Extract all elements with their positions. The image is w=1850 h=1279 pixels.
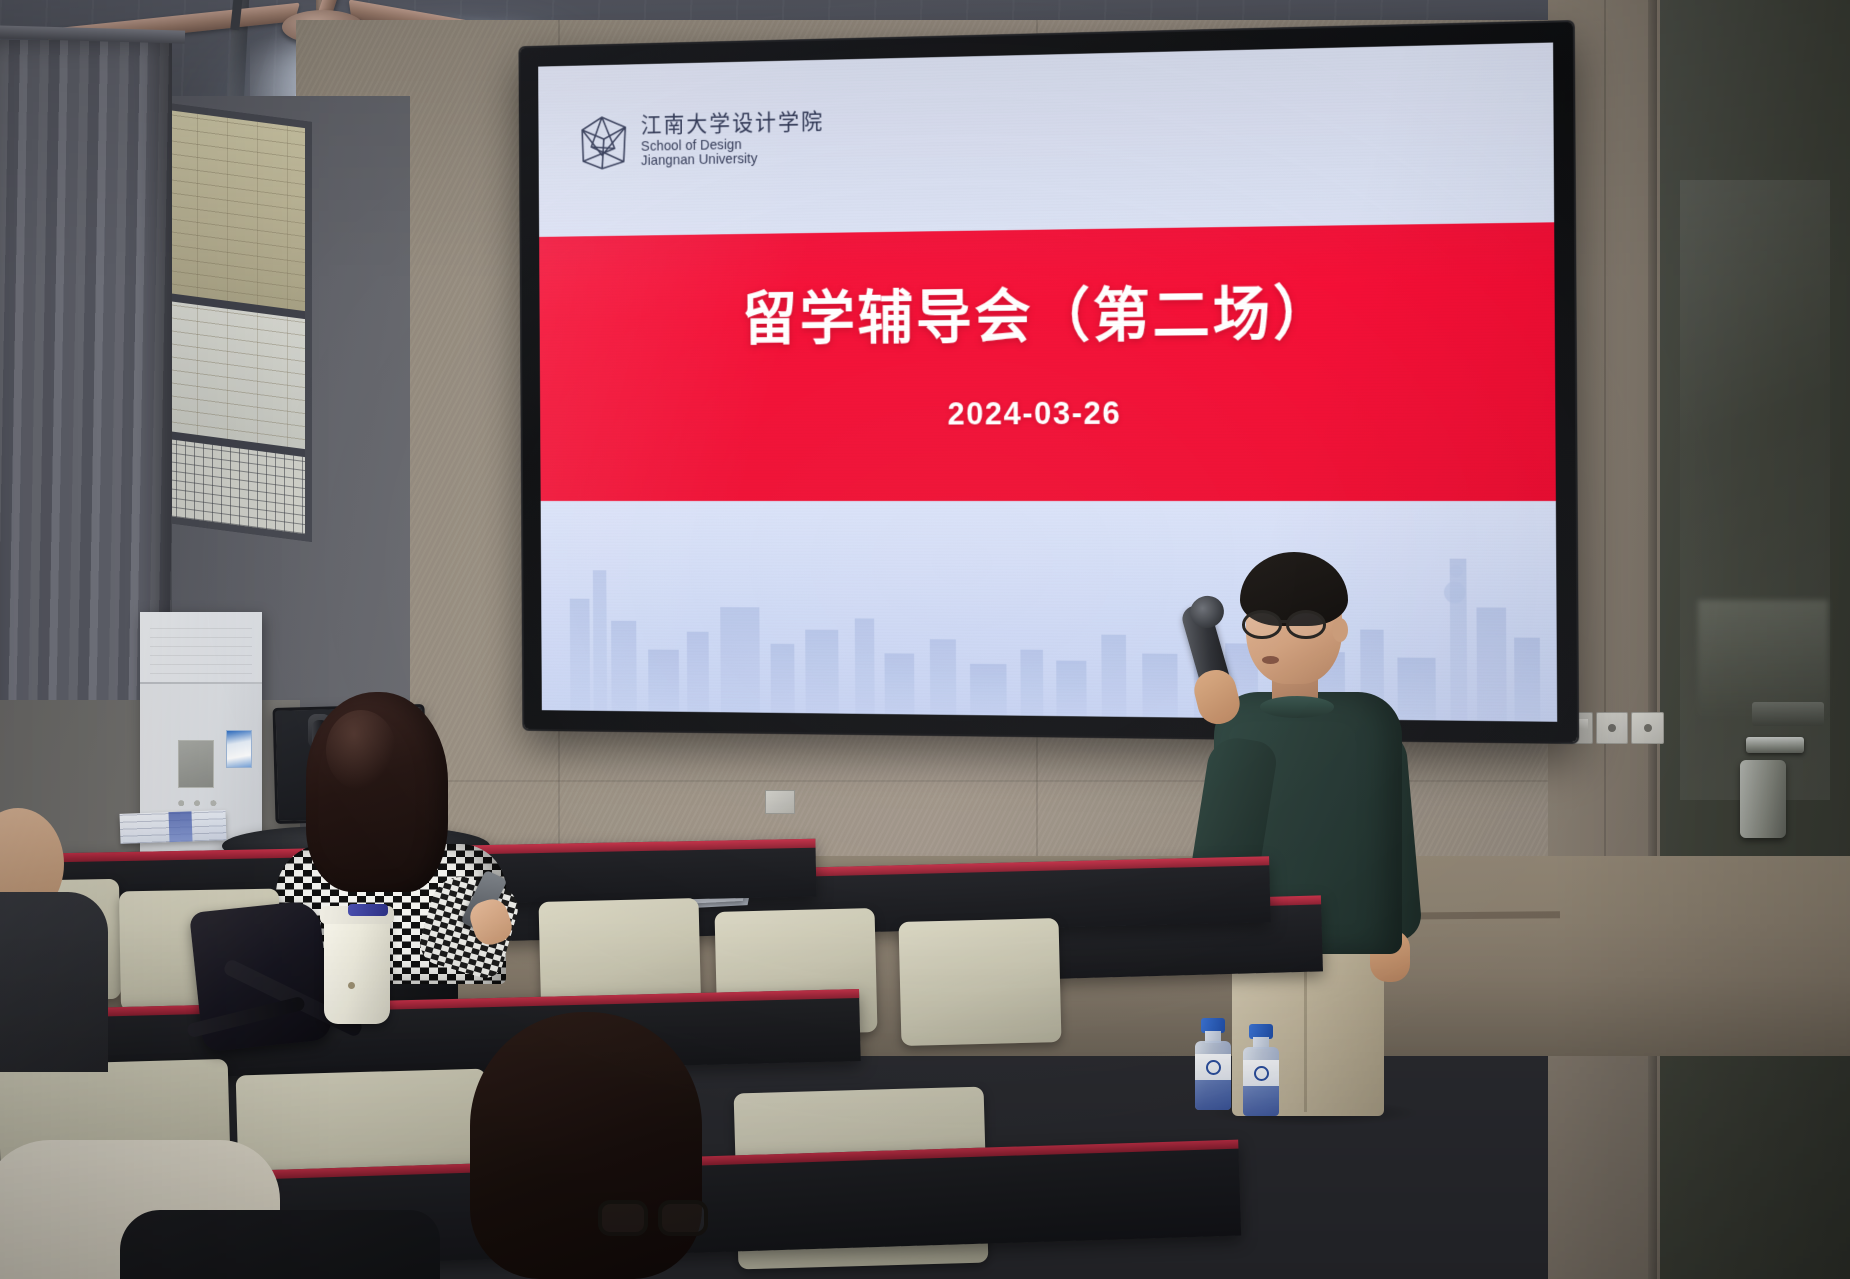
glasses-lens-left — [1242, 610, 1282, 639]
door-lock[interactable] — [1740, 760, 1786, 838]
tumbler-logo-dot — [348, 982, 355, 989]
ac-top-panel — [140, 612, 262, 684]
power-outlet[interactable] — [1596, 712, 1629, 744]
logo-english-line-2: Jiangnan University — [641, 151, 824, 169]
classroom-window — [160, 102, 312, 542]
glasses-lens-right — [658, 1200, 708, 1236]
door-handle[interactable] — [1746, 737, 1804, 753]
logo-chinese-name: 江南大学设计学院 — [641, 111, 824, 137]
presenter-mouth — [1262, 656, 1279, 664]
ac-vents — [150, 622, 252, 674]
tumbler-accent — [348, 904, 388, 916]
door-jamb — [1648, 0, 1657, 1279]
ac-energy-label — [226, 730, 252, 768]
slide-date: 2024-03-26 — [540, 392, 1555, 434]
ac-display — [178, 740, 214, 788]
slide-logo: 江南大学设计学院 School of Design Jiangnan Unive… — [579, 109, 825, 171]
paper-lines — [120, 810, 227, 844]
water-bottle[interactable] — [1240, 1024, 1282, 1116]
seat-back[interactable] — [899, 918, 1062, 1046]
attendee-front-left-body — [0, 892, 108, 1072]
lecture-hall-scene: 江南大学设计学院 School of Design Jiangnan Unive… — [0, 0, 1850, 1279]
eyeglasses-icon — [598, 1200, 710, 1240]
window-pane-middle — [167, 301, 305, 453]
exterior-brick-wall — [167, 110, 305, 315]
door-closer-arm — [1752, 702, 1824, 726]
trouser-seam — [1304, 952, 1307, 1112]
exterior-brick-wall — [167, 301, 305, 453]
wall-junction-box — [765, 790, 795, 814]
water-bottle[interactable] — [1192, 1018, 1234, 1110]
power-outlet[interactable] — [1631, 712, 1664, 744]
window-pane-upper — [167, 110, 305, 315]
slide-title: 留学辅导会（第二场） — [539, 263, 1555, 358]
glass-entry-door[interactable] — [1660, 0, 1850, 1279]
hair-highlight — [326, 710, 396, 790]
bottle-label — [1243, 1060, 1279, 1086]
stack-of-handouts[interactable] — [120, 810, 227, 844]
attendee-front-center-shoulder — [120, 1210, 440, 1279]
wall-seam — [1604, 0, 1606, 980]
glasses-lens-right — [1286, 610, 1326, 639]
bottle-label — [1195, 1054, 1231, 1080]
jiangnan-university-school-of-design-logo-icon — [579, 114, 630, 172]
travel-tumbler[interactable] — [324, 912, 390, 1024]
glasses-lens-left — [598, 1200, 648, 1236]
sweater-collar — [1260, 696, 1334, 718]
eyeglasses-icon — [1240, 610, 1344, 640]
